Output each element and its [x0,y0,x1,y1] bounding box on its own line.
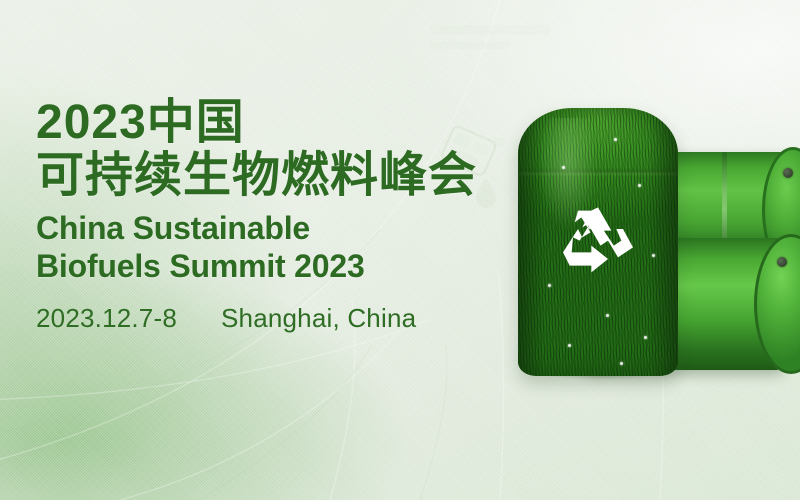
grass-speck [568,344,571,347]
title-english-line1: China Sustainable [36,210,506,248]
event-meta-row: 2023.12.7-8 Shanghai, China [36,303,506,334]
bung-plug [783,168,793,178]
grass-speck [638,184,641,187]
grass-speck [562,166,565,169]
banner-text-block: 2023中国 可持续生物燃料峰会 China Sustainable Biofu… [36,98,506,334]
grass-speck [548,284,551,287]
event-date: 2023.12.7-8 [36,303,177,334]
banner-artwork [500,0,800,500]
grass-speck [614,138,617,141]
barrel-right-shade [648,108,678,376]
grass-speck [606,314,609,317]
title-chinese-line2: 可持续生物燃料峰会 [36,151,506,202]
grass-barrel [518,108,678,376]
bung-plug [777,257,787,267]
event-location: Shanghai, China [221,303,416,334]
grass-speck [644,336,647,339]
grass-speck [652,254,655,257]
grass-speck [620,362,623,365]
title-chinese-line1: 2023中国 [36,98,506,149]
title-english-line2: Biofuels Summit 2023 [36,248,506,286]
event-banner: 2023中国 可持续生物燃料峰会 China Sustainable Biofu… [0,0,800,500]
recycling-symbol-icon [556,204,640,284]
